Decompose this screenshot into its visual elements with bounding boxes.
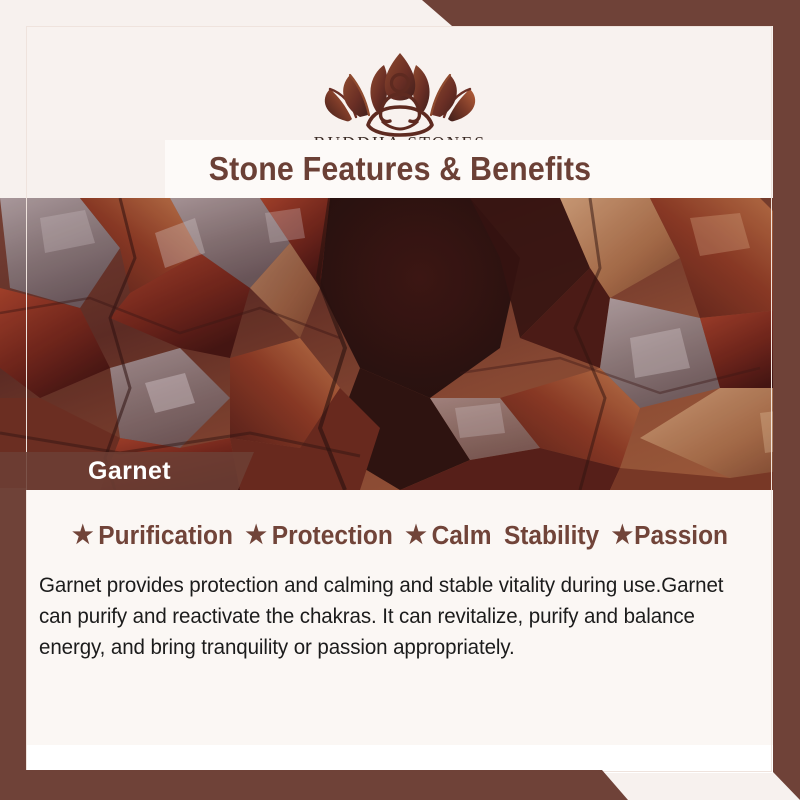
frame-right-bar <box>773 0 800 800</box>
benefit-item-protection: ★Protection <box>245 522 392 551</box>
benefit-label: Passion <box>634 522 728 551</box>
benefit-item-calm: ★Calm <box>405 522 491 551</box>
star-icon: ★ <box>72 523 94 548</box>
description-text: Garnet provides protection and calming a… <box>39 570 729 663</box>
product-info-card: BUDDHA STONES Stone Features & Benefits <box>0 0 800 800</box>
stone-name-label: Garnet <box>88 457 171 486</box>
benefit-item-stability: Stability <box>504 522 599 551</box>
frame-left-bar <box>0 488 26 800</box>
benefit-label: Stability <box>504 522 599 551</box>
benefit-label: Protection <box>272 522 393 551</box>
frame-top-bar <box>0 0 800 26</box>
star-icon: ★ <box>612 523 634 548</box>
brand-logo: BUDDHA STONES <box>27 49 773 154</box>
garnet-photo <box>0 198 800 490</box>
frame-bottom-bar <box>0 770 800 800</box>
bottom-white-fill <box>27 745 773 773</box>
brand-header: BUDDHA STONES <box>27 27 773 140</box>
benefit-item-passion: ★Passion <box>612 522 728 551</box>
lotus-meditation-icon <box>316 49 484 137</box>
star-icon: ★ <box>245 523 267 548</box>
description-panel: ★Purification★Protection★CalmStability★P… <box>27 490 773 745</box>
garnet-photo-artwork <box>0 198 800 490</box>
benefits-list: ★Purification★Protection★CalmStability★P… <box>42 522 758 551</box>
star-icon: ★ <box>405 523 427 548</box>
stone-name-banner: Garnet <box>0 452 254 490</box>
benefit-label: Calm <box>432 522 492 551</box>
benefit-item-purification: ★Purification <box>72 522 233 551</box>
benefit-label: Purification <box>98 522 233 551</box>
page-title: Stone Features & Benefits <box>32 140 768 198</box>
